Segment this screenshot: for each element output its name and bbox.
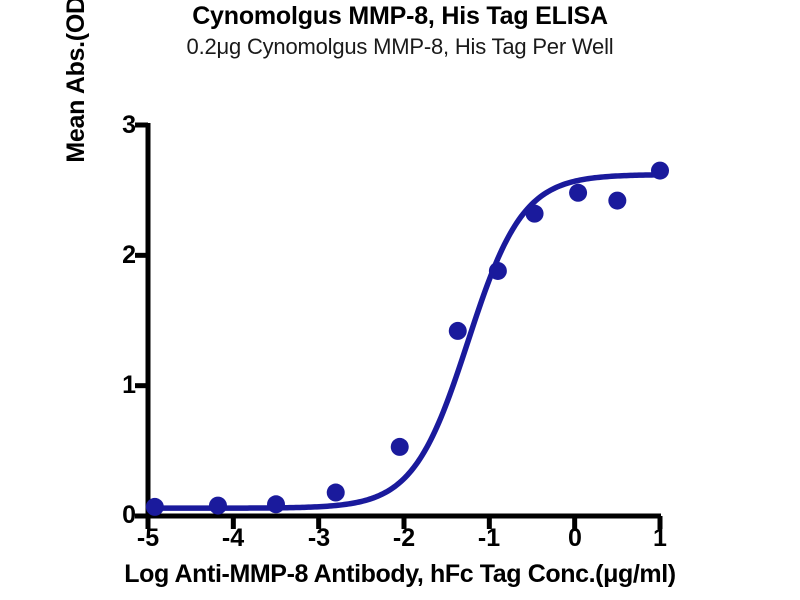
elisa-chart-figure: Cynomolgus MMP-8, His Tag ELISA 0.2μg Cy… — [0, 0, 800, 600]
data-point-marker — [489, 262, 507, 280]
plot-area — [0, 0, 800, 600]
fit-curve — [155, 175, 660, 508]
data-point-marker — [391, 438, 409, 456]
data-point-marker — [608, 192, 626, 210]
data-point-marker — [209, 497, 227, 515]
data-point-marker — [267, 495, 285, 513]
data-point-marker — [569, 184, 587, 202]
data-point-marker — [327, 484, 345, 502]
data-point-marker — [526, 205, 544, 223]
data-point-marker — [651, 162, 669, 180]
data-point-marker — [146, 498, 164, 516]
data-point-marker — [449, 322, 467, 340]
data-point-group — [146, 162, 669, 516]
